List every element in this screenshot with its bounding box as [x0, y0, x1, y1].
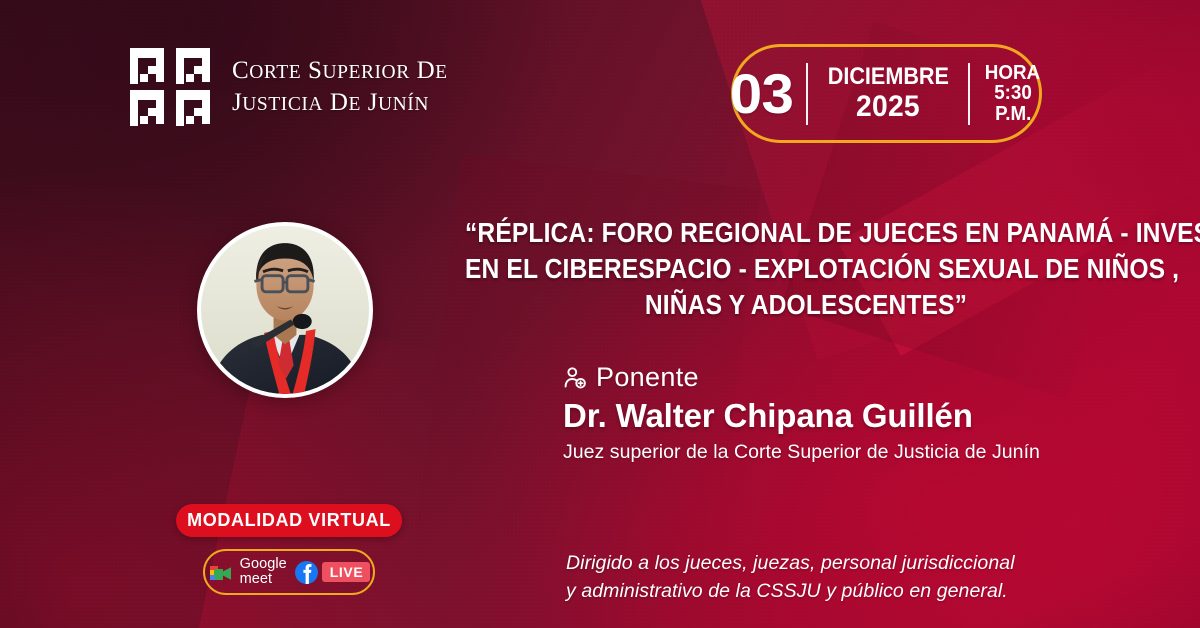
- institution-logo: CORTE SUPERIOR DE JUSTICIA DE JUNÍN: [128, 46, 448, 128]
- hour-label: HORA: [985, 63, 1040, 83]
- badge-divider-1: [806, 63, 808, 125]
- audience-note-line1: Dirigido a los jueces, juezas, personal …: [566, 549, 1015, 577]
- modality-badge: MODALIDAD VIRTUAL: [176, 504, 402, 537]
- institution-name: CORTE SUPERIOR DE JUSTICIA DE JUNÍN: [232, 55, 448, 120]
- institution-name-line1: CORTE SUPERIOR DE: [232, 55, 448, 88]
- audience-note: Dirigido a los jueces, juezas, personal …: [566, 549, 1015, 606]
- institution-name-line2: JUSTICIA DE JUNÍN: [232, 87, 448, 120]
- speaker-block: Ponente Dr. Walter Chipana Guillén Juez …: [563, 362, 1040, 464]
- google-meet-label: Google meet: [240, 557, 287, 587]
- hour-time: 5:30: [994, 83, 1032, 103]
- event-hour-block: HORA 5:30 P.M.: [970, 63, 1052, 124]
- speaker-photo: [197, 222, 373, 398]
- event-title-line3: NIÑAS Y ADOLESCENTES”: [465, 287, 1147, 323]
- event-title: “RÉPLICA: FORO REGIONAL DE JUECES EN PAN…: [465, 215, 1147, 322]
- google-meet-link[interactable]: Google meet: [208, 557, 287, 587]
- event-title-line1: “RÉPLICA: FORO REGIONAL DE JUECES EN PAN…: [465, 215, 1147, 251]
- speaker-position: Juez superior de la Corte Superior de Ju…: [563, 441, 1040, 464]
- andean-meander-logo-icon: [128, 46, 214, 128]
- platforms-badge: Google meet LIVE: [203, 549, 375, 595]
- event-month-year: DICIEMBRE 2025: [808, 65, 969, 122]
- date-time-badge: 03 DICIEMBRE 2025 HORA 5:30 P.M.: [731, 44, 1042, 143]
- event-day: 03: [719, 61, 808, 126]
- speaker-name: Dr. Walter Chipana Guillén: [563, 397, 1040, 435]
- hour-meridiem: P.M.: [995, 104, 1031, 124]
- facebook-live-link[interactable]: LIVE: [295, 561, 371, 584]
- badge-divider-2: [968, 63, 970, 125]
- user-add-icon: [563, 366, 587, 390]
- event-title-line2: EN EL CIBERESPACIO - EXPLOTACIÓN SEXUAL …: [465, 251, 1147, 287]
- speaker-role: Ponente: [563, 362, 1040, 393]
- google-meet-icon: [208, 561, 235, 584]
- live-badge: LIVE: [322, 562, 371, 582]
- speaker-photo-illustration: [201, 226, 369, 394]
- event-month: DICIEMBRE: [828, 65, 949, 89]
- facebook-icon: [295, 561, 318, 584]
- modality-label: MODALIDAD VIRTUAL: [187, 510, 391, 531]
- speaker-role-label: Ponente: [596, 362, 699, 393]
- google-meet-line1: Google: [240, 557, 287, 572]
- audience-note-line2: y administrativo de la CSSJU y público e…: [566, 577, 1015, 605]
- event-banner: CORTE SUPERIOR DE JUSTICIA DE JUNÍN 03 D…: [0, 0, 1200, 628]
- event-year: 2025: [856, 92, 920, 122]
- google-meet-line2: meet: [240, 572, 287, 587]
